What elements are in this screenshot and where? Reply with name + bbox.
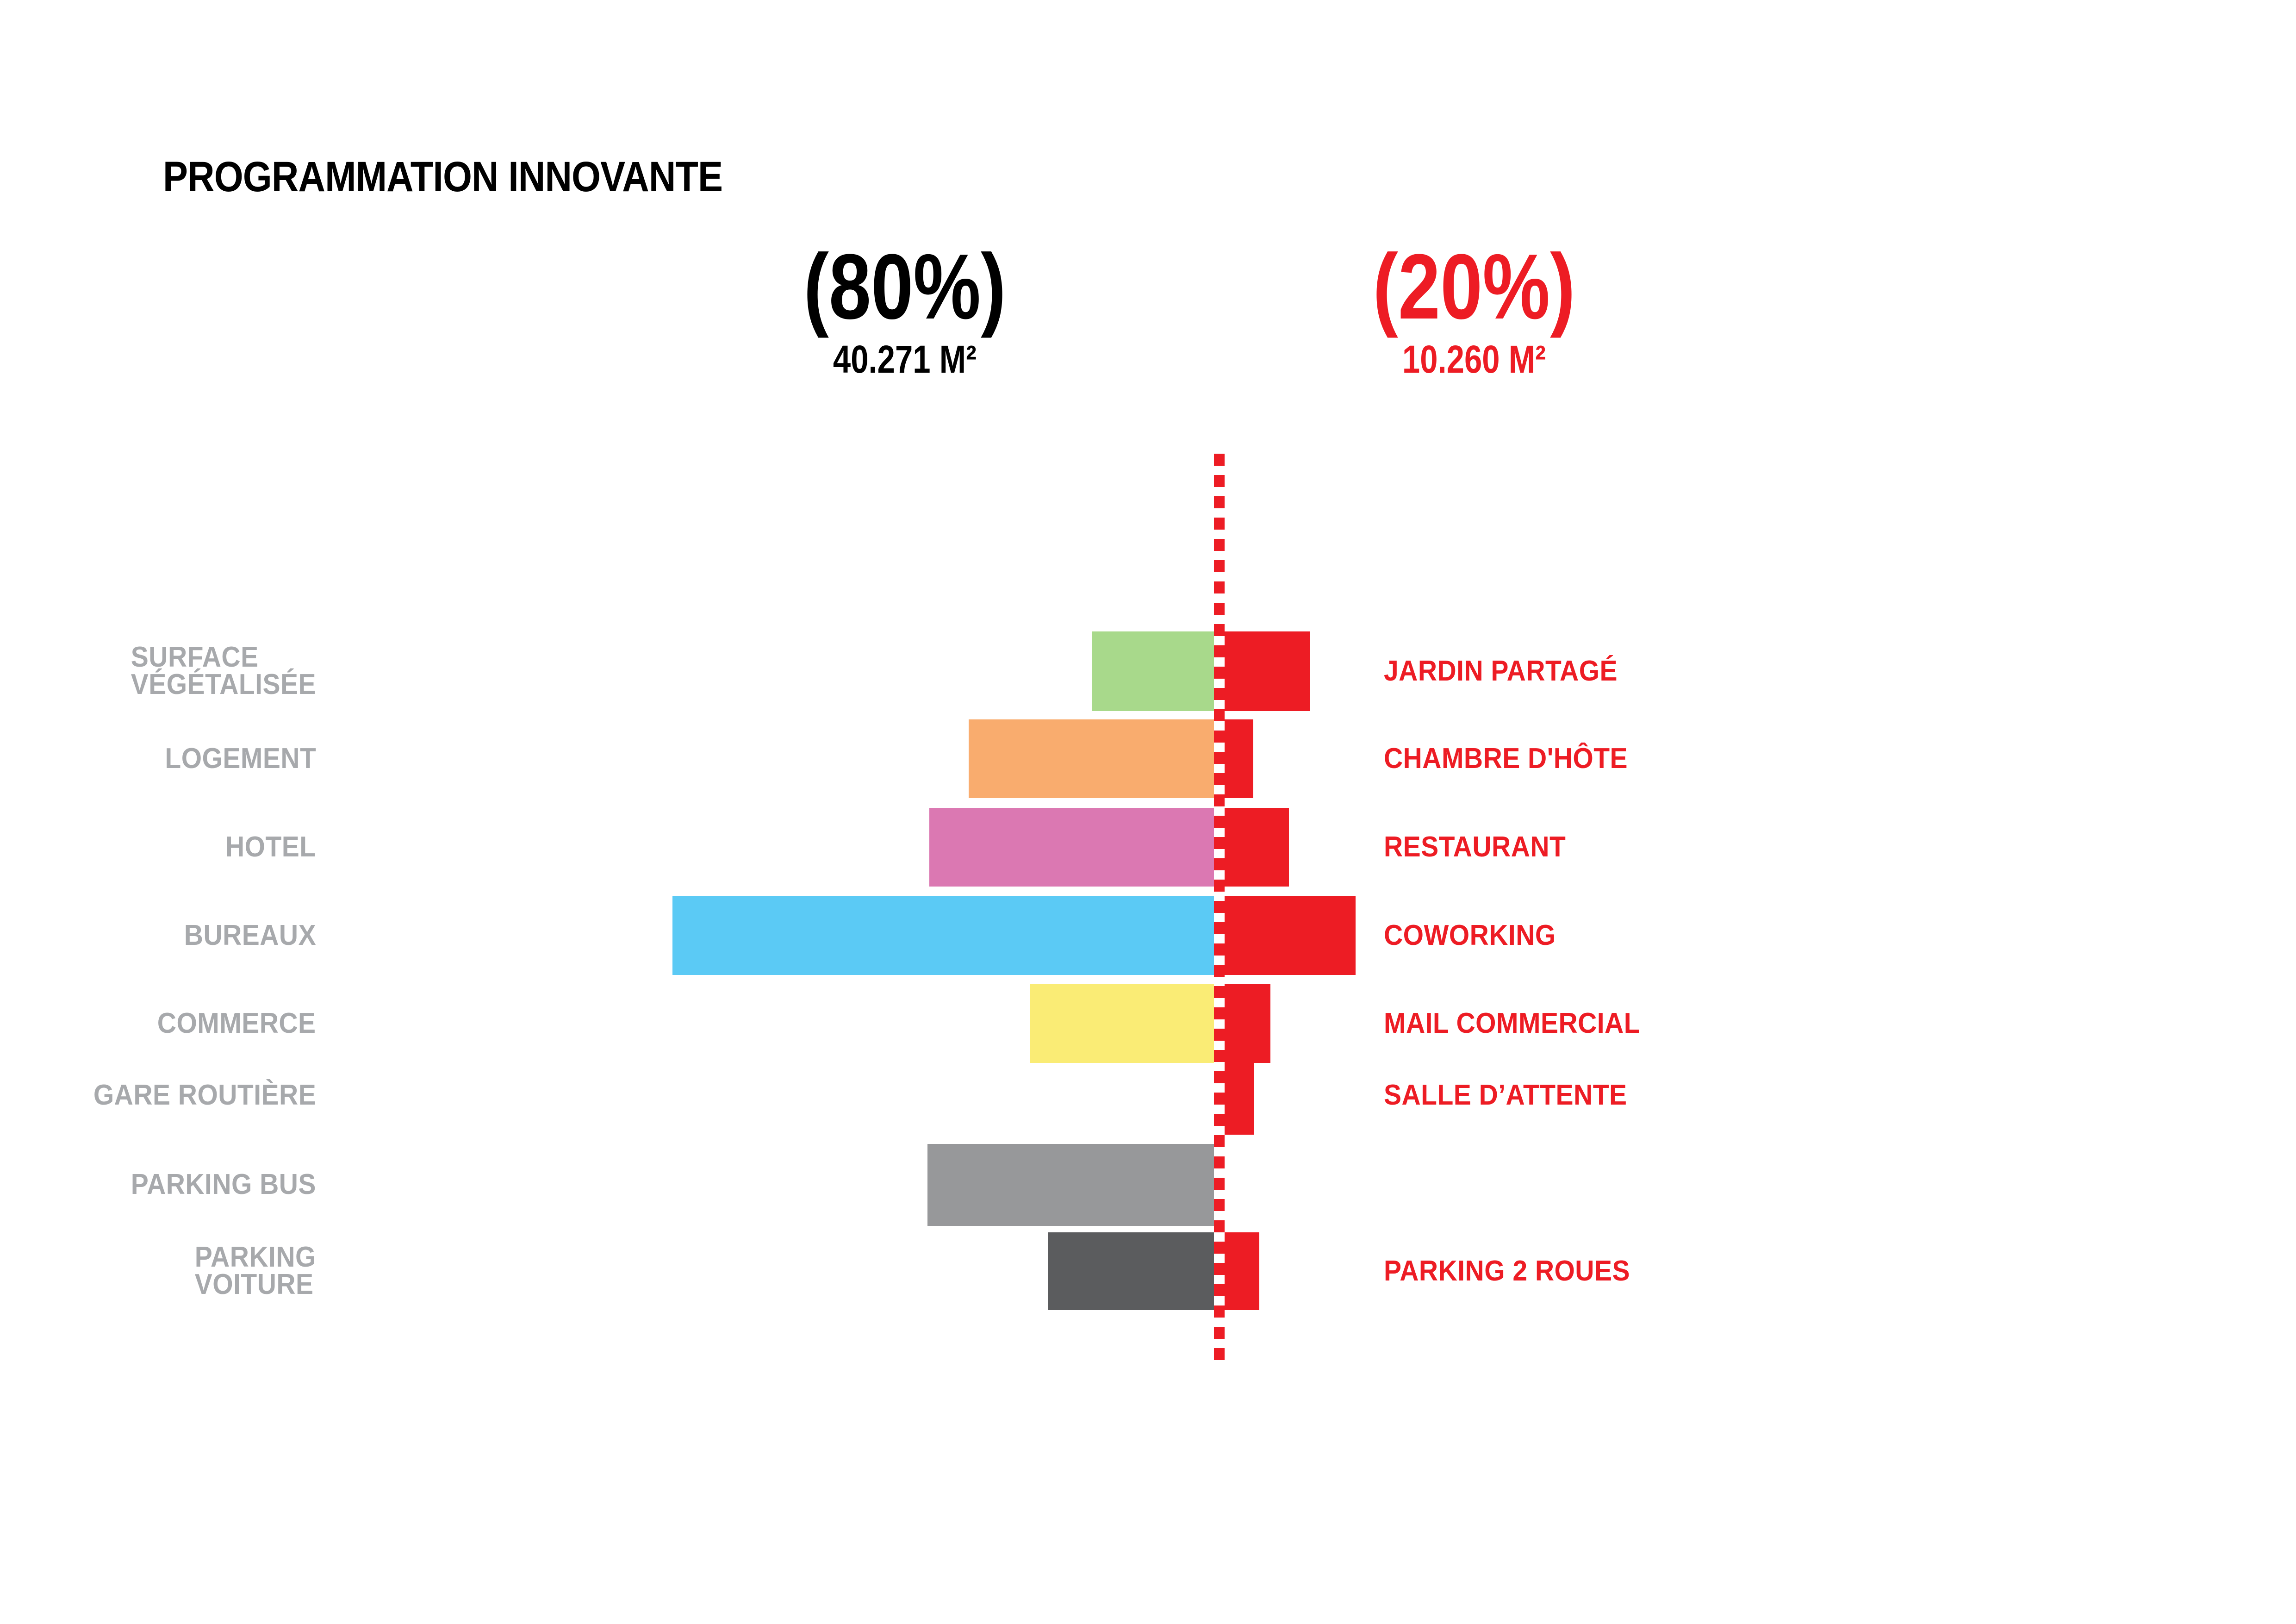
category-label-right-text: CHAMBRE D'HÔTE	[1384, 745, 1628, 773]
bar-row: HOTELRESTAURANT	[0, 808, 2296, 887]
category-label-left: COMMERCE	[157, 984, 316, 1063]
center-axis-dashed-line	[1214, 454, 1225, 1369]
label-line-2: VOITURE	[195, 1271, 316, 1299]
category-label-left-text: SURFACEVÉGÉTALISÉE	[131, 644, 316, 699]
category-label-left-text: HOTEL	[225, 834, 316, 861]
bar-row: SURFACEVÉGÉTALISÉEJARDIN PARTAGÉ	[0, 631, 2296, 711]
bar-segment-right[interactable]	[1220, 1232, 1259, 1310]
label-line-1: SURFACE	[131, 644, 316, 671]
category-label-left: GARE ROUTIÈRE	[93, 1056, 316, 1135]
category-label-left-text: PARKING BUS	[131, 1171, 316, 1199]
category-label-left-text: GARE ROUTIÈRE	[93, 1082, 316, 1109]
bar-segment-left[interactable]	[927, 1144, 1220, 1226]
category-label-right-text: COWORKING	[1384, 922, 1556, 949]
category-label-right-text: MAIL COMMERCIAL	[1384, 1010, 1640, 1037]
bar-row: COMMERCEMAIL COMMERCIAL	[0, 984, 2296, 1063]
bar-row: BUREAUXCOWORKING	[0, 896, 2296, 975]
bar-segment-right[interactable]	[1220, 1056, 1254, 1135]
category-label-right-text: SALLE D’ATTENTE	[1384, 1082, 1627, 1109]
category-label-right: CHAMBRE D'HÔTE	[1384, 719, 1628, 798]
bar-segment-right[interactable]	[1220, 896, 1356, 975]
label-line-1: PARKING	[195, 1244, 316, 1271]
category-label-right-text: PARKING 2 ROUES	[1384, 1258, 1630, 1285]
label-line-2: VÉGÉTALISÉE	[131, 671, 316, 699]
category-label-left-text: PARKINGVOITURE	[195, 1244, 316, 1299]
bar-segment-left[interactable]	[1048, 1232, 1220, 1310]
category-label-left: SURFACEVÉGÉTALISÉE	[131, 631, 316, 711]
category-label-left: HOTEL	[225, 808, 316, 887]
bar-segment-left[interactable]	[1030, 984, 1220, 1063]
bar-row: GARE ROUTIÈRESALLE D’ATTENTE	[0, 1056, 2296, 1135]
bar-row: LOGEMENTCHAMBRE D'HÔTE	[0, 719, 2296, 798]
category-label-left: BUREAUX	[184, 896, 316, 975]
category-label-right: MAIL COMMERCIAL	[1384, 984, 1640, 1063]
category-label-right-text: JARDIN PARTAGÉ	[1384, 658, 1618, 685]
category-label-left-text: LOGEMENT	[165, 745, 316, 773]
diverging-bar-chart: SURFACEVÉGÉTALISÉEJARDIN PARTAGÉLOGEMENT…	[0, 0, 2296, 1624]
bar-segment-left[interactable]	[929, 808, 1220, 887]
bar-segment-right[interactable]	[1220, 808, 1289, 887]
bar-row: PARKINGVOITUREPARKING 2 ROUES	[0, 1232, 2296, 1310]
category-label-right: RESTAURANT	[1384, 808, 1566, 887]
category-label-left-text: COMMERCE	[157, 1010, 316, 1037]
category-label-right-text: RESTAURANT	[1384, 834, 1566, 861]
category-label-left-text: BUREAUX	[184, 922, 316, 949]
category-label-left: PARKING BUS	[131, 1144, 316, 1226]
category-label-right: COWORKING	[1384, 896, 1556, 975]
bar-segment-left[interactable]	[1092, 631, 1220, 711]
category-label-left: PARKINGVOITURE	[195, 1232, 316, 1310]
bar-segment-left[interactable]	[672, 896, 1220, 975]
bar-row: PARKING BUS	[0, 1144, 2296, 1226]
category-label-right: PARKING 2 ROUES	[1384, 1232, 1630, 1310]
category-label-left: LOGEMENT	[165, 719, 316, 798]
bar-segment-right[interactable]	[1220, 984, 1270, 1063]
bar-segment-right[interactable]	[1220, 631, 1310, 711]
bar-segment-left[interactable]	[969, 719, 1220, 798]
category-label-right: SALLE D’ATTENTE	[1384, 1056, 1627, 1135]
category-label-right: JARDIN PARTAGÉ	[1384, 631, 1618, 711]
